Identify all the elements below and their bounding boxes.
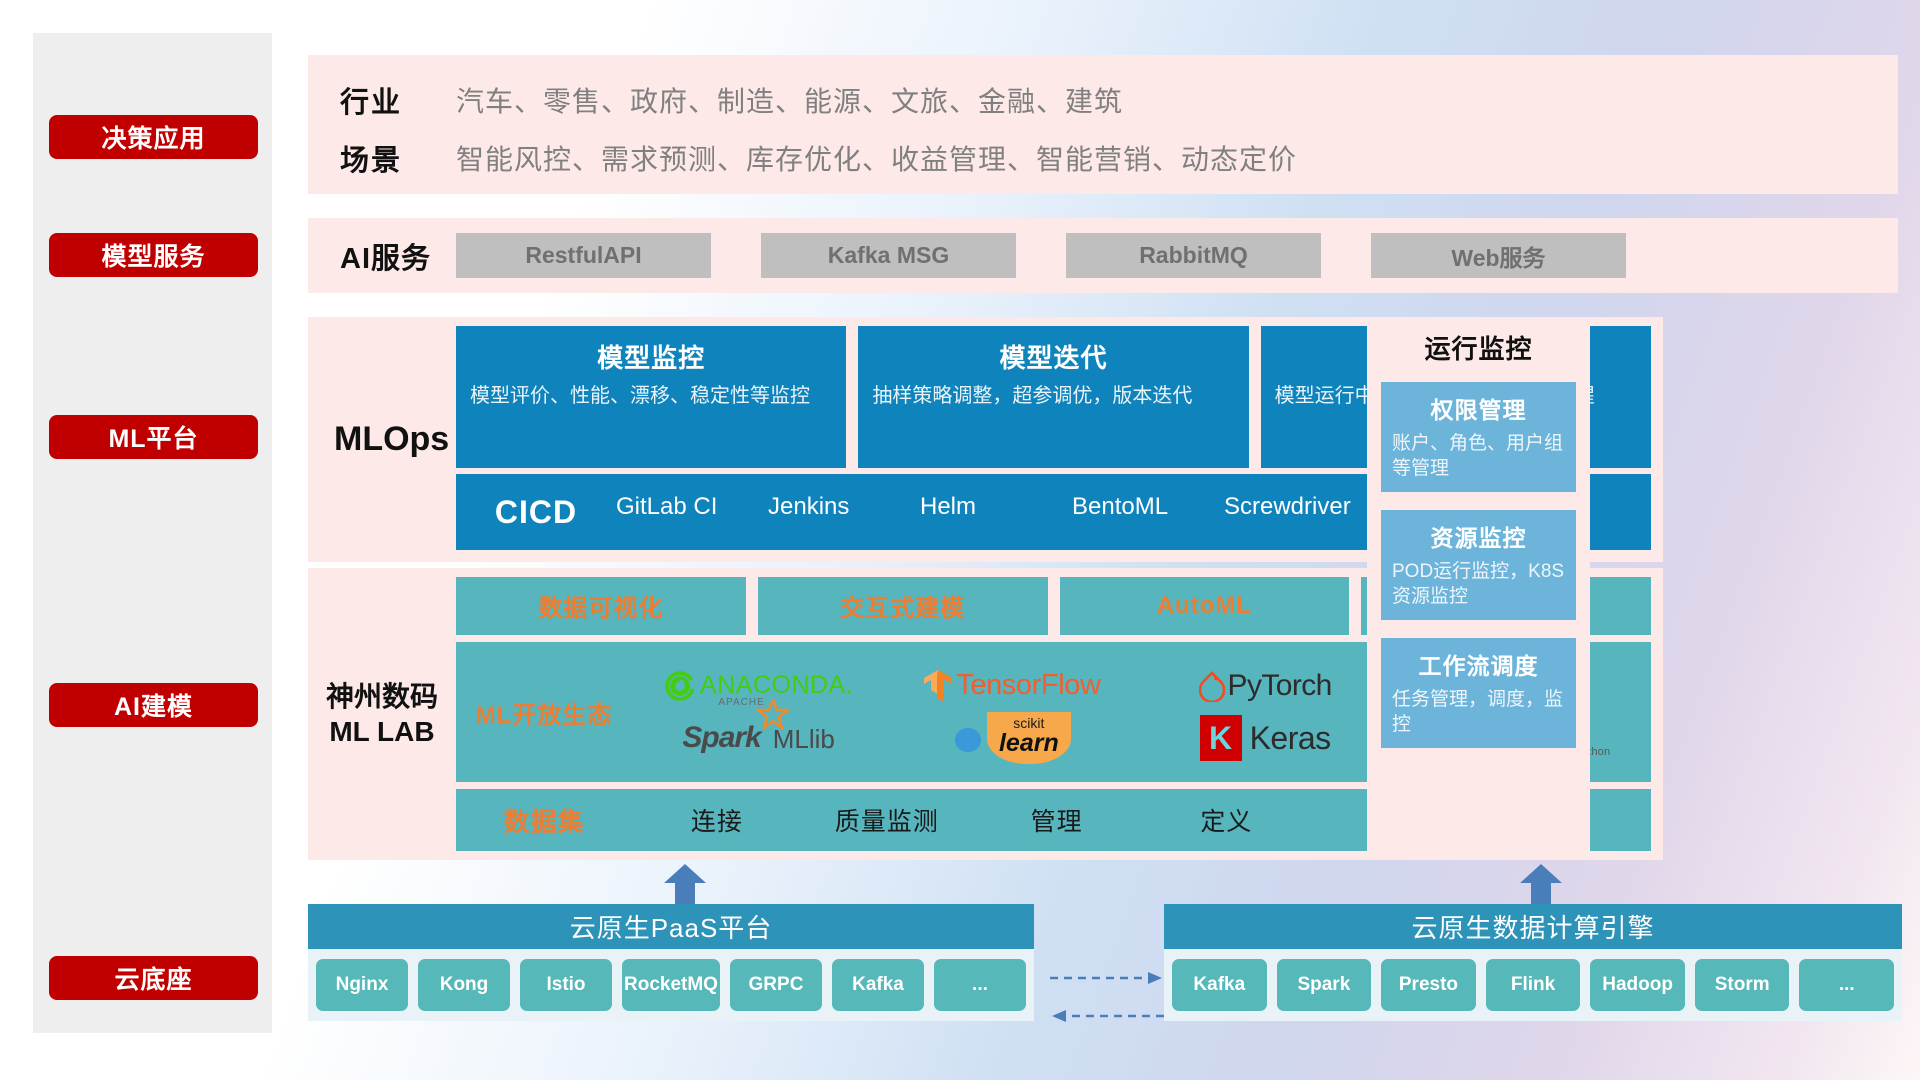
cicd-item-screwdriver[interactable]: Screwdriver xyxy=(1224,488,1376,526)
arrow-up-paas-icon xyxy=(662,864,708,904)
keras-logo: K Keras xyxy=(1200,715,1331,761)
scenario-values: 智能风控、需求预测、库存优化、收益管理、智能营销、动态定价 xyxy=(456,138,1297,178)
monitor-card-desc: POD运行监控，K8S资源监控 xyxy=(1392,559,1565,609)
ml-lab-tab-data-visualization[interactable]: 数据可视化 xyxy=(456,577,746,635)
mlops-card-model-monitoring[interactable]: 模型监控 模型评价、性能、漂移、稳定性等监控 xyxy=(456,326,846,468)
cloud-chip-rocketmq[interactable]: RocketMQ xyxy=(622,959,720,1011)
cloud-chip-kong[interactable]: Kong xyxy=(418,959,510,1011)
scenario-row: 场景 智能风控、需求预测、库存优化、收益管理、智能营销、动态定价 xyxy=(308,129,1898,187)
ai-service-label: AI服务 xyxy=(308,235,456,277)
mlops-label: MLOps xyxy=(308,317,456,562)
scikit-learn-logo: scikit learn xyxy=(953,712,1071,764)
monitor-card-permission-management[interactable]: 权限管理 账户、角色、用户组等管理 xyxy=(1381,382,1576,492)
cloud-chip-grpc[interactable]: GRPC xyxy=(730,959,822,1011)
engine-chip-hadoop[interactable]: Hadoop xyxy=(1590,959,1685,1011)
dataset-item-connect[interactable]: 连接 xyxy=(632,802,802,838)
ml-lab-tab-automl[interactable]: AutoML xyxy=(1060,577,1350,635)
ai-service-chip-rabbitmq[interactable]: RabbitMQ xyxy=(1066,233,1321,278)
ml-ecosystem-label: ML开放生态 xyxy=(456,695,632,730)
dataset-title: 数据集 xyxy=(456,802,632,839)
cloud-base-zone: 云原生PaaS平台 Nginx Kong Istio RocketMQ GRPC… xyxy=(308,870,1920,1070)
stage-chip-model-service[interactable]: 模型服务 xyxy=(49,233,258,277)
runtime-monitor-title: 运行监控 xyxy=(1381,329,1576,366)
cicd-item-helm[interactable]: Helm xyxy=(920,488,1072,526)
stage-chip-ai-modeling[interactable]: AI建模 xyxy=(49,683,258,727)
engine-chip-presto[interactable]: Presto xyxy=(1381,959,1476,1011)
stage-chip-cloud-base[interactable]: 云底座 xyxy=(49,956,258,1000)
stage-chip-label: 决策应用 xyxy=(101,119,205,155)
engine-chip-kafka[interactable]: Kafka xyxy=(1172,959,1267,1011)
cloud-chip-more[interactable]: ... xyxy=(934,959,1026,1011)
spark-logo-text: Spark xyxy=(682,721,760,755)
monitor-card-title: 工作流调度 xyxy=(1392,647,1565,681)
ml-lab-label-line1: 神州数码 xyxy=(326,679,438,714)
bidirectional-dashed-arrows-icon xyxy=(1048,962,1166,1032)
applications-band: 行业 汽车、零售、政府、制造、能源、文旅、金融、建筑 场景 智能风控、需求预测、… xyxy=(308,55,1898,194)
scikit-bottom-text: learn xyxy=(999,730,1059,756)
stage-chip-label: ML平台 xyxy=(108,419,198,455)
cloud-engine-item-list: Kafka Spark Presto Flink Hadoop Storm ..… xyxy=(1164,949,1902,1021)
ai-service-band: AI服务 RestfulAPI Kafka MSG RabbitMQ Web服务 xyxy=(308,218,1898,293)
stage-chip-decision-app[interactable]: 决策应用 xyxy=(49,115,258,159)
dataset-item-definition[interactable]: 定义 xyxy=(1141,802,1311,838)
cloud-paas-title: 云原生PaaS平台 xyxy=(308,904,1034,949)
monitor-card-desc: 账户、角色、用户组等管理 xyxy=(1392,431,1565,481)
stage-rail: 决策应用 模型服务 ML平台 AI建模 云底座 xyxy=(33,33,272,1033)
monitor-card-title: 资源监控 xyxy=(1392,519,1565,553)
runtime-monitor-panel: 运行监控 权限管理 账户、角色、用户组等管理 资源监控 POD运行监控，K8S资… xyxy=(1367,317,1590,860)
engine-chip-storm[interactable]: Storm xyxy=(1695,959,1790,1011)
cloud-engine-title: 云原生数据计算引擎 xyxy=(1164,904,1902,949)
industry-values: 汽车、零售、政府、制造、能源、文旅、金融、建筑 xyxy=(456,80,1123,120)
mlops-card-title: 模型迭代 xyxy=(872,338,1234,375)
tensorflow-logo: TensorFlow xyxy=(923,669,1100,703)
stage-chip-label: AI建模 xyxy=(114,687,193,723)
engine-chip-spark[interactable]: Spark xyxy=(1277,959,1372,1011)
monitor-card-desc: 任务管理，调度，监控 xyxy=(1392,687,1565,737)
dataset-item-management[interactable]: 管理 xyxy=(972,802,1142,838)
mlops-card-desc: 模型评价、性能、漂移、稳定性等监控 xyxy=(470,383,832,410)
mlops-card-desc: 抽样策略调整，超参调优，版本迭代 xyxy=(872,383,1234,410)
stage-chip-ml-platform[interactable]: ML平台 xyxy=(49,415,258,459)
cloud-chip-nginx[interactable]: Nginx xyxy=(316,959,408,1011)
cicd-title: CICD xyxy=(456,494,616,531)
arrow-up-engine-icon xyxy=(1518,864,1564,904)
scikit-top-text: scikit xyxy=(999,716,1059,730)
ai-service-chip-kafka-msg[interactable]: Kafka MSG xyxy=(761,233,1016,278)
cloud-paas-item-list: Nginx Kong Istio RocketMQ GRPC Kafka ... xyxy=(308,949,1034,1021)
scenario-label: 场景 xyxy=(308,137,456,179)
mlops-card-model-iteration[interactable]: 模型迭代 抽样策略调整，超参调优，版本迭代 xyxy=(858,326,1248,468)
pytorch-logo: PyTorch xyxy=(1199,669,1332,703)
engine-chip-flink[interactable]: Flink xyxy=(1486,959,1581,1011)
keras-mark-text: K xyxy=(1209,720,1232,757)
monitor-card-workflow-scheduling[interactable]: 工作流调度 任务管理，调度，监控 xyxy=(1381,638,1576,748)
cicd-item-bentoml[interactable]: BentoML xyxy=(1072,488,1224,526)
cicd-item-gitlab-ci[interactable]: GitLab CI xyxy=(616,488,768,526)
cloud-native-data-engine-group: 云原生数据计算引擎 Kafka Spark Presto Flink Hadoo… xyxy=(1164,904,1902,1021)
ai-service-chip-web-service[interactable]: Web服务 xyxy=(1371,233,1626,278)
cicd-item-jenkins[interactable]: Jenkins xyxy=(768,488,920,526)
monitor-card-title: 权限管理 xyxy=(1392,391,1565,425)
spark-mllib-logo: APACHE Spark MLlib xyxy=(682,721,835,755)
engine-chip-more[interactable]: ... xyxy=(1799,959,1894,1011)
tensorflow-logo-text: TensorFlow xyxy=(956,669,1100,702)
industry-row: 行业 汽车、零售、政府、制造、能源、文旅、金融、建筑 xyxy=(308,71,1898,129)
monitor-card-resource-monitoring[interactable]: 资源监控 POD运行监控，K8S资源监控 xyxy=(1381,510,1576,620)
cloud-native-paas-group: 云原生PaaS平台 Nginx Kong Istio RocketMQ GRPC… xyxy=(308,904,1034,1021)
ml-lab-label: 神州数码 ML LAB xyxy=(308,568,456,860)
ai-service-chip-restfulapi[interactable]: RestfulAPI xyxy=(456,233,711,278)
ml-lab-tab-interactive-modeling[interactable]: 交互式建模 xyxy=(758,577,1048,635)
ml-lab-label-line2: ML LAB xyxy=(326,714,438,749)
ai-service-items: RestfulAPI Kafka MSG RabbitMQ Web服务 xyxy=(456,233,1898,278)
cloud-chip-kafka[interactable]: Kafka xyxy=(832,959,924,1011)
anaconda-logo-text: ANACONDA. xyxy=(700,671,853,700)
stage-chip-label: 云底座 xyxy=(114,960,192,996)
stage-chip-label: 模型服务 xyxy=(101,237,205,273)
pytorch-logo-text: PyTorch xyxy=(1228,669,1332,703)
industry-label: 行业 xyxy=(308,79,456,121)
mlops-card-title: 模型监控 xyxy=(470,338,832,375)
dataset-item-quality-monitoring[interactable]: 质量监测 xyxy=(802,802,972,838)
cloud-chip-istio[interactable]: Istio xyxy=(520,959,612,1011)
keras-logo-text: Keras xyxy=(1250,720,1331,757)
